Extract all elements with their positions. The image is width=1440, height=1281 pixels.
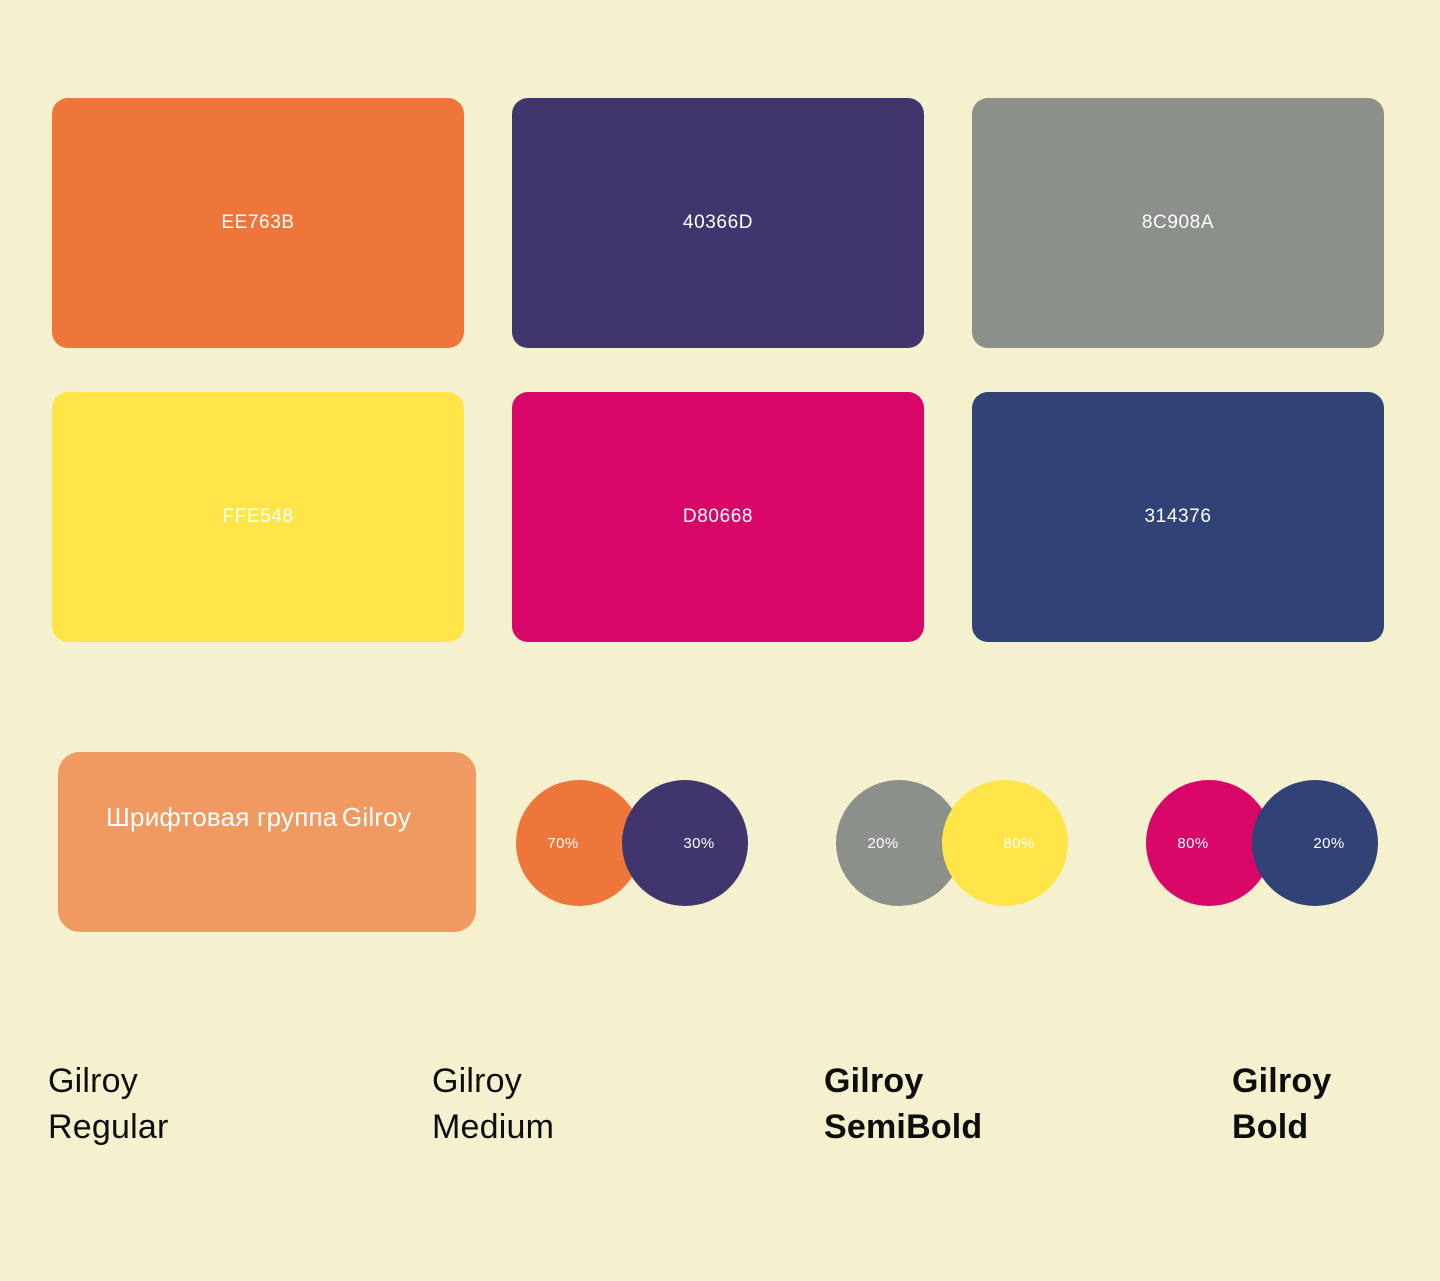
type-specimen-regular: Gilroy Regular <box>48 1058 168 1150</box>
ratio-label: 80% <box>1003 835 1034 852</box>
font-group-title: Шрифтовая группа <box>106 802 337 832</box>
color-swatch-grid: EE763B 40366D 8C908A FFE548 D80668 31437… <box>52 98 1388 642</box>
type-specimen-weight: Medium <box>432 1104 554 1150</box>
typography-specimen-row: Gilroy Regular Gilroy Medium Gilroy Semi… <box>0 1058 1440 1178</box>
font-group-card: Шрифтовая группа Gilroy <box>58 752 476 932</box>
color-swatch-label: 8C908A <box>1142 212 1214 234</box>
type-specimen-family: Gilroy <box>1232 1058 1331 1104</box>
color-swatch-label: 314376 <box>1144 506 1211 528</box>
ratio-circle-secondary[interactable]: 80% <box>942 780 1068 906</box>
color-swatch-indigo[interactable]: 40366D <box>512 98 924 348</box>
color-swatch-label: EE763B <box>221 212 294 234</box>
ratio-label: 70% <box>547 835 578 852</box>
ratio-label: 30% <box>683 835 714 852</box>
type-specimen-family: Gilroy <box>48 1058 168 1104</box>
ratio-circle-secondary[interactable]: 30% <box>622 780 748 906</box>
color-swatch-yellow[interactable]: FFE548 <box>52 392 464 642</box>
color-swatch-label: FFE548 <box>222 506 293 528</box>
ratio-label: 20% <box>867 835 898 852</box>
color-swatch-orange[interactable]: EE763B <box>52 98 464 348</box>
type-specimen-weight: SemiBold <box>824 1104 982 1150</box>
type-specimen-weight: Bold <box>1232 1104 1331 1150</box>
color-swatch-navy[interactable]: 314376 <box>972 392 1384 642</box>
color-swatch-label: 40366D <box>683 212 753 234</box>
font-group-family: Gilroy <box>342 802 411 832</box>
type-specimen-medium: Gilroy Medium <box>432 1058 554 1150</box>
type-specimen-weight: Regular <box>48 1104 168 1150</box>
ratio-label: 80% <box>1177 835 1208 852</box>
type-specimen-bold: Gilroy Bold <box>1232 1058 1331 1150</box>
color-swatch-sage[interactable]: 8C908A <box>972 98 1384 348</box>
ratio-label: 20% <box>1313 835 1344 852</box>
type-specimen-family: Gilroy <box>824 1058 982 1104</box>
ratio-circle-secondary[interactable]: 20% <box>1252 780 1378 906</box>
color-swatch-label: D80668 <box>683 506 753 528</box>
type-specimen-semibold: Gilroy SemiBold <box>824 1058 982 1150</box>
type-specimen-family: Gilroy <box>432 1058 554 1104</box>
color-swatch-magenta[interactable]: D80668 <box>512 392 924 642</box>
